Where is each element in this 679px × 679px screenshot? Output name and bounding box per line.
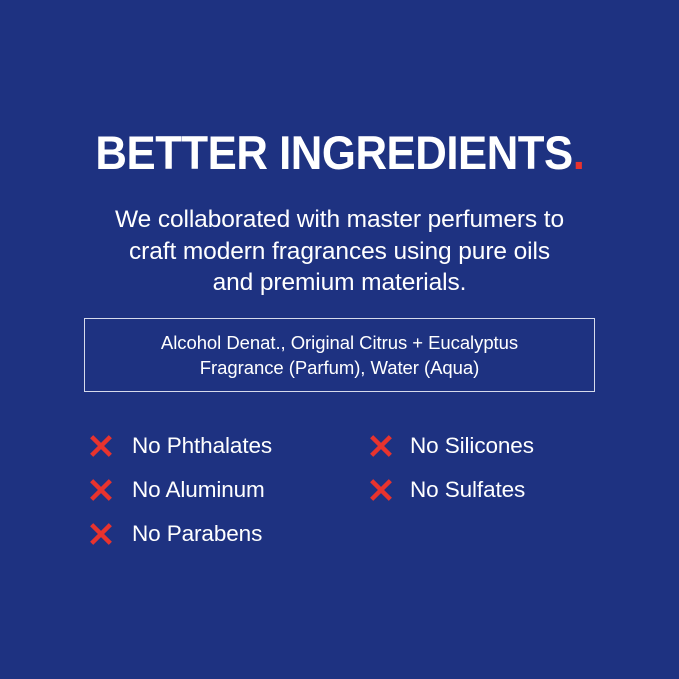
ingredients-text: Alcohol Denat., Original Citrus + Eucaly… bbox=[161, 330, 518, 380]
headline-container: BETTER INGREDIENTS. bbox=[0, 128, 679, 178]
list-item-label: No Silicones bbox=[410, 433, 534, 459]
red-x-icon bbox=[88, 477, 114, 503]
ingredients-line-1: Alcohol Denat., Original Citrus + Eucaly… bbox=[161, 330, 518, 355]
body-line-3: and premium materials. bbox=[60, 267, 619, 299]
red-x-icon bbox=[88, 433, 114, 459]
claims-column-left: No Phthalates No Aluminum No Parabens bbox=[88, 424, 368, 556]
red-x-icon bbox=[88, 521, 114, 547]
body-line-1: We collaborated with master perfumers to bbox=[60, 204, 619, 236]
ingredients-line-2: Fragrance (Parfum), Water (Aqua) bbox=[161, 355, 518, 380]
list-item: No Phthalates bbox=[88, 424, 368, 468]
headline-text: BETTER INGREDIENTS bbox=[95, 126, 572, 179]
list-item-label: No Parabens bbox=[132, 521, 262, 547]
headline-red-period: . bbox=[572, 126, 584, 179]
better-ingredients-panel: BETTER INGREDIENTS. We collaborated with… bbox=[0, 0, 679, 679]
list-item-label: No Sulfates bbox=[410, 477, 525, 503]
list-item-label: No Aluminum bbox=[132, 477, 265, 503]
list-item: No Silicones bbox=[368, 424, 608, 468]
list-item-label: No Phthalates bbox=[132, 433, 272, 459]
list-item: No Aluminum bbox=[88, 468, 368, 512]
ingredients-box: Alcohol Denat., Original Citrus + Eucaly… bbox=[84, 318, 595, 392]
claims-column-right: No Silicones No Sulfates bbox=[368, 424, 608, 556]
red-x-icon bbox=[368, 477, 394, 503]
red-x-icon bbox=[368, 433, 394, 459]
list-item: No Parabens bbox=[88, 512, 368, 556]
claims-list: No Phthalates No Aluminum No Parabens bbox=[88, 424, 608, 556]
page-title: BETTER INGREDIENTS. bbox=[95, 128, 584, 178]
list-item: No Sulfates bbox=[368, 468, 608, 512]
body-line-2: craft modern fragrances using pure oils bbox=[60, 236, 619, 268]
body-copy: We collaborated with master perfumers to… bbox=[60, 204, 619, 299]
